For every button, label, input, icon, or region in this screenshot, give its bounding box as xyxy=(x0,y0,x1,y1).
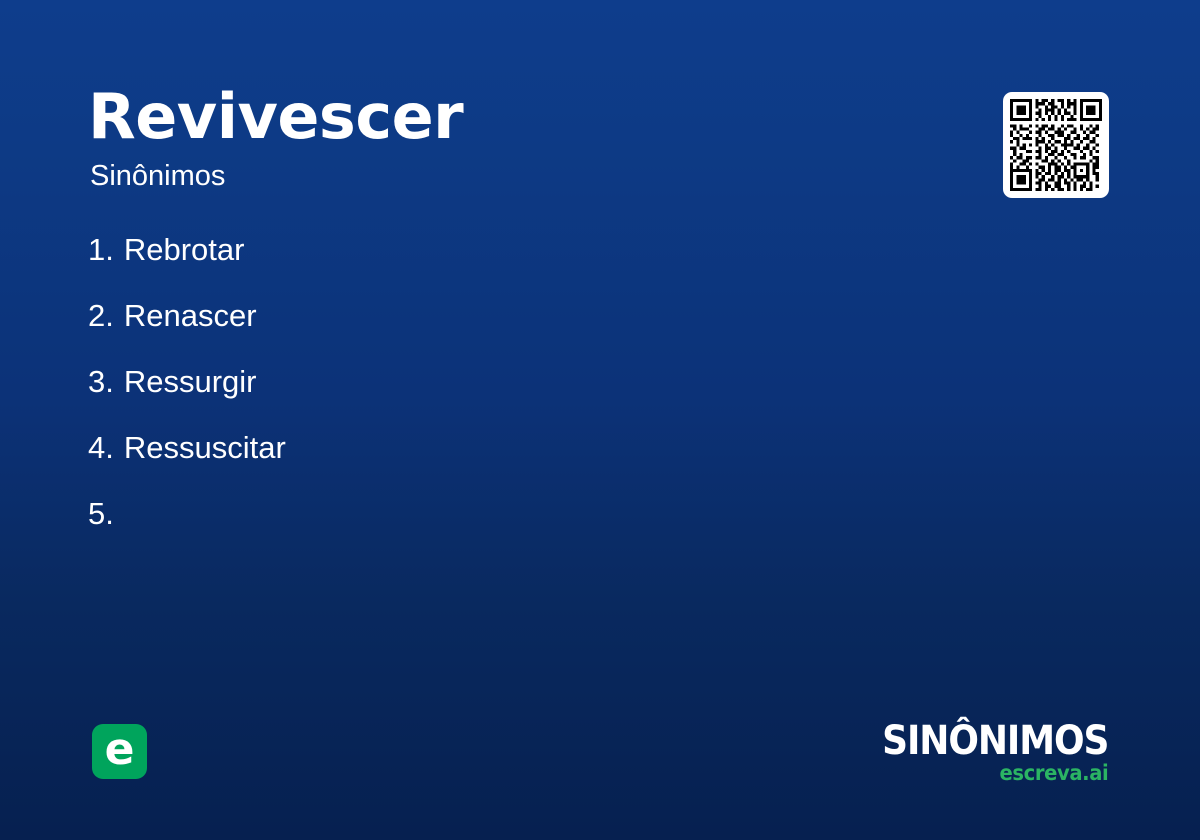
list-item-index: 3. xyxy=(88,366,114,397)
list-item-index: 4. xyxy=(88,432,114,463)
list-item: 2. Renascer xyxy=(88,300,908,366)
page-title: Revivescer xyxy=(88,84,908,149)
list-item-index: 1. xyxy=(88,234,114,265)
qr-code[interactable] xyxy=(1003,92,1109,198)
brand-tagline: escreva.ai xyxy=(874,763,1108,784)
list-item: 3. Ressurgir xyxy=(88,366,908,432)
escreva-app-icon: e xyxy=(92,724,147,779)
brand-wordmark: SINÔNIMOS xyxy=(882,722,1108,760)
list-item-label: Renascer xyxy=(124,300,257,331)
list-item-label: Ressuscitar xyxy=(124,432,286,463)
list-item: 1. Rebrotar xyxy=(88,234,908,300)
list-item-index: 5. xyxy=(88,498,114,529)
synonym-list: 1. Rebrotar 2. Renascer 3. Ressurgir 4. … xyxy=(88,234,908,564)
card-header: Revivescer Sinônimos xyxy=(88,84,908,194)
synonym-card: Revivescer Sinônimos xyxy=(0,0,1200,840)
brand-lockup: SINÔNIMOS escreva.ai xyxy=(857,722,1108,784)
list-item-index: 2. xyxy=(88,300,114,331)
app-icon-letter: e xyxy=(105,728,135,772)
page-subtitle: Sinônimos xyxy=(90,159,908,194)
qr-code-icon xyxy=(1010,99,1102,191)
list-item-label: Ressurgir xyxy=(124,366,257,397)
list-item: 5. xyxy=(88,498,908,564)
list-item: 4. Ressuscitar xyxy=(88,432,908,498)
list-item-label: Rebrotar xyxy=(124,234,245,265)
